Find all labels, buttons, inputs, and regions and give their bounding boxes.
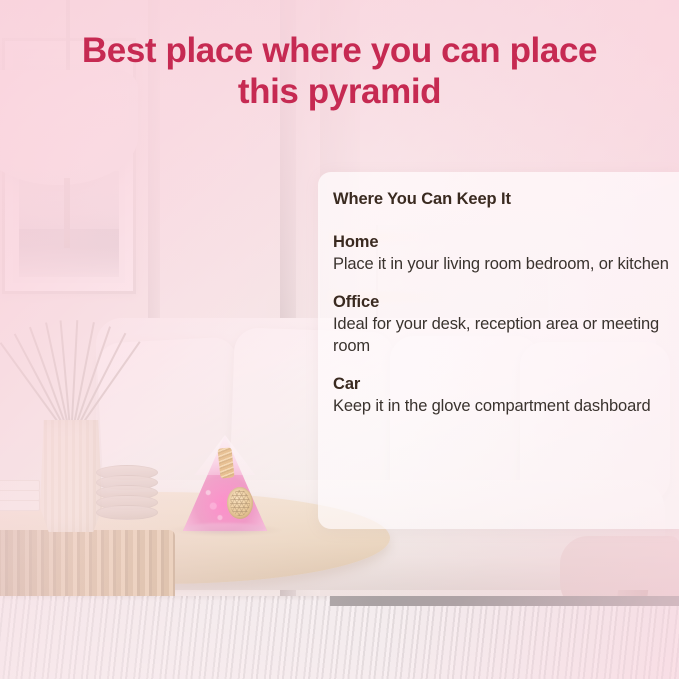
pyramid-base-edge — [185, 523, 265, 533]
section-body: Keep it in the glove compartment dashboa… — [333, 396, 679, 418]
floor-shadow-line — [330, 596, 679, 606]
info-card-title: Where You Can Keep It — [333, 190, 679, 209]
gold-copper-coil — [217, 447, 234, 478]
book-stack — [0, 480, 38, 514]
placement-section-office: Office Ideal for your desk, reception ar… — [333, 293, 679, 358]
fluted-vase — [40, 420, 102, 532]
lamp-stem — [64, 178, 70, 248]
product-lifestyle-infographic: Best place where you can place this pyra… — [0, 0, 679, 679]
info-card: Where You Can Keep It Home Place it in y… — [318, 172, 679, 529]
section-heading: Car — [333, 375, 679, 394]
section-body: Place it in your living room bedroom, or… — [333, 254, 679, 276]
placement-section-home: Home Place it in your living room bedroo… — [333, 233, 679, 276]
dried-branches — [8, 300, 148, 440]
page-title: Best place where you can place this pyra… — [0, 31, 679, 112]
stacked-glass-bowls — [96, 465, 156, 525]
section-heading: Office — [333, 293, 679, 312]
section-heading: Home — [333, 233, 679, 252]
floor-surface — [0, 596, 679, 679]
orgonite-pyramid-product — [183, 435, 267, 531]
section-body: Ideal for your desk, reception area or m… — [333, 314, 679, 358]
placement-section-car: Car Keep it in the glove compartment das… — [333, 375, 679, 418]
flower-of-life-disc-icon — [227, 487, 253, 519]
